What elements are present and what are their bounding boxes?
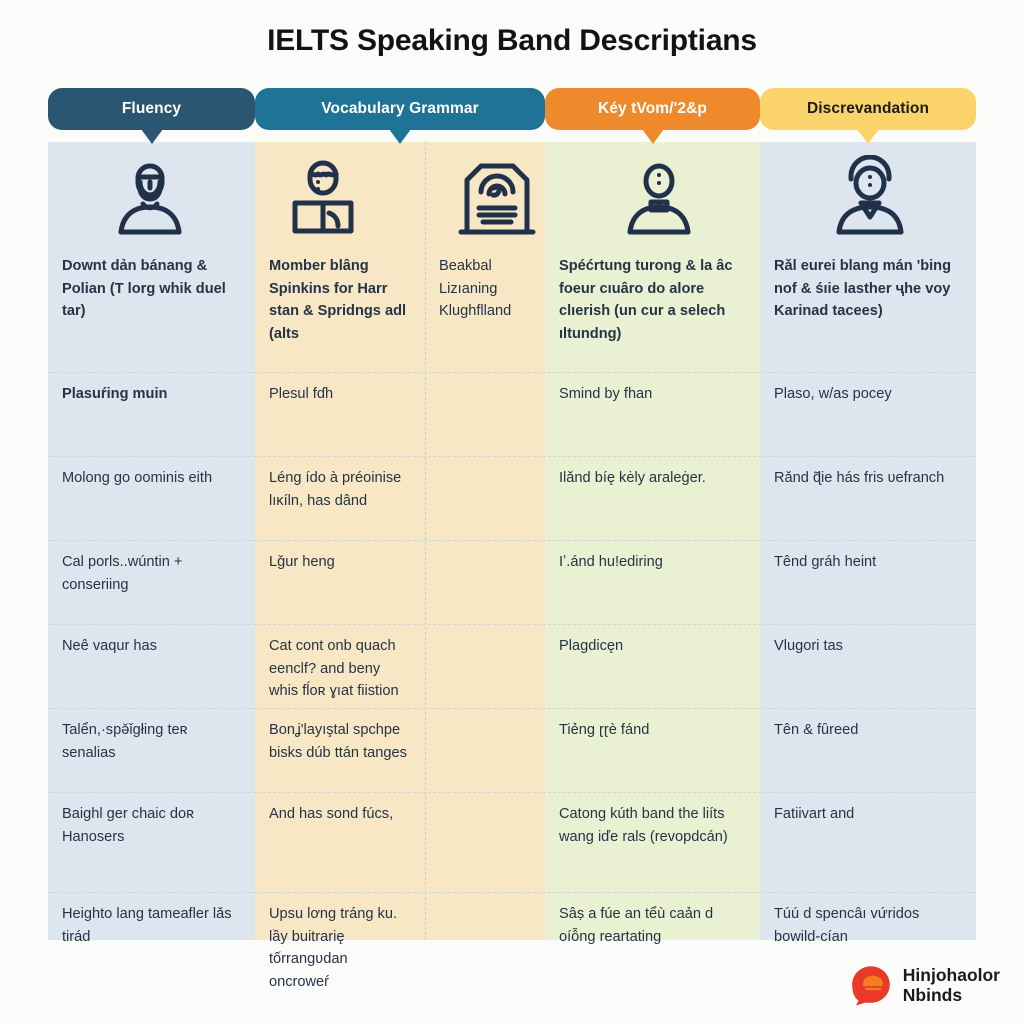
column-header-vocab_grammar[interactable]: Vocabulary Grammar (255, 88, 545, 130)
table-cell: Cat cont onb quach eenclf? and beny whis… (255, 625, 425, 713)
column-header-label: Fluency (122, 100, 181, 118)
table-cell: Baighl ger chaic doʀ Hanosers (48, 793, 255, 858)
table-cell: Upsu lơng tráng ku. lầy buitrarię tốrran… (255, 893, 425, 1003)
column-header-notch-key_vocab (642, 129, 664, 144)
table-row: Baighl ger chaic doʀ HanosersAnd has son… (48, 793, 976, 893)
table-cell: Rǎl eurei blang mán 'bing nof & śıie las… (760, 245, 976, 333)
column-header-label: Kéy tVom/'2&p (598, 100, 707, 118)
table-cell: Bonʝ'layıştal spchpe bisks dúb ttán tang… (255, 709, 425, 774)
page-title: IELTS Speaking Band Descriptians (0, 24, 1024, 58)
table-cell: Rǎnd ɖ̃ie hás fris ʋefranch (760, 457, 976, 500)
table-cell: Catong kúth band the liíts wang iďe rals… (545, 793, 760, 858)
table-cell: Tênd gráh heint (760, 541, 976, 584)
table-cell: Lǧur heng (255, 541, 425, 584)
table-cell: And has sond fúcs, (255, 793, 425, 836)
table-cell: Plesul fɗh (255, 373, 425, 416)
table-cell: Molong go oominis eith (48, 457, 255, 500)
column-header-notch-vocab_grammar (389, 129, 411, 144)
table-row: Talển,·spǝ̌ǐgłing teʀ senaliasBonʝ'layış… (48, 709, 976, 793)
column-header-notch-fluency (141, 129, 163, 144)
table-cell: Talển,·spǝ̌ǐgłing teʀ senalias (48, 709, 255, 774)
table-cell: Smind by fhan (545, 373, 760, 416)
brand-logo-text: Hinjohaolor Nbinds (903, 965, 1000, 1006)
table-cell: Fatiivart and (760, 793, 976, 836)
column-header-row: FluencyVocabulary GrammarKéy tVom/'2&pDi… (48, 88, 976, 130)
column-header-discreve[interactable]: Discrevandation (760, 88, 976, 130)
column-header-notch-discreve (857, 129, 879, 144)
table-cell: Ilǎnd bíę kėly araleġer. (545, 457, 760, 500)
monument-text-icon (452, 150, 542, 240)
table-cell: Sâṣ a fúe an tểù caản d oíỗng reartating (545, 893, 760, 958)
table-cell: Spéćrtung turong & la âc foeur cıuâro do… (545, 245, 760, 355)
table-row: Heighto lang tameafler lǎs tirádUpsu lơn… (48, 893, 976, 1013)
speech-bubble-logo-icon (850, 964, 892, 1006)
column-header-fluency[interactable]: Fluency (48, 88, 255, 130)
table-row: Cal porls..wúntin + conseriingLǧur hengI… (48, 541, 976, 625)
column-header-key_vocab[interactable]: Kéy tVom/'2&p (545, 88, 760, 130)
brand-logo: Hinjohaolor Nbinds (850, 964, 1000, 1006)
table-row: Downt dản bánang & Polian (T lorg whik d… (48, 245, 976, 373)
person-cap-icon (105, 150, 195, 240)
table-cell: Heighto lang tameafler lǎs tirád (48, 893, 255, 958)
descriptor-table: Downt dản bánang & Polian (T lorg whik d… (48, 245, 976, 1013)
table-row: Molong go oominis eithLéng ídο à préoini… (48, 457, 976, 541)
column-icon-row (48, 150, 976, 240)
table-cell: Plasuŕing muin (48, 373, 255, 416)
table-cell: Downt dản bánang & Polian (T lorg whik d… (48, 245, 255, 333)
table-cell: Túú d spencâı vứridos bowild-cían (760, 893, 976, 958)
table-cell: Léng ídο à préoinise lıĸíln, has dând (255, 457, 425, 522)
table-cell: Momber blâng Spinkins for Harr stan & Sp… (255, 245, 425, 355)
person-headphones-icon (825, 150, 915, 240)
table-cell: Tên & fȗreed (760, 709, 976, 752)
column-header-label: Discrevandation (807, 100, 929, 118)
table-cell: Beakbal Lizıaning Klughflland (425, 245, 545, 333)
table-cell: Tiẻng ɽɽè fánd (545, 709, 760, 752)
column-header-label: Vocabulary Grammar (321, 100, 478, 118)
table-row: Plasuŕing muinPlesul fɗhSmind by fhanPla… (48, 373, 976, 457)
table-cell: Vlugori tas (760, 625, 976, 668)
table-cell: Cal porls..wúntin + conseriing (48, 541, 255, 606)
table-cell: Iʼ.ánd hu!ediring (545, 541, 760, 584)
table-cell: Plaso, w/as pocey (760, 373, 976, 416)
table-row: Neê vaqur hasCat cont onb quach eenclf? … (48, 625, 976, 709)
person-book-icon (278, 150, 368, 240)
table-cell: Neê vaqur has (48, 625, 255, 668)
person-shoulders-icon (614, 150, 704, 240)
table-cell: Plagdicęn (545, 625, 760, 668)
